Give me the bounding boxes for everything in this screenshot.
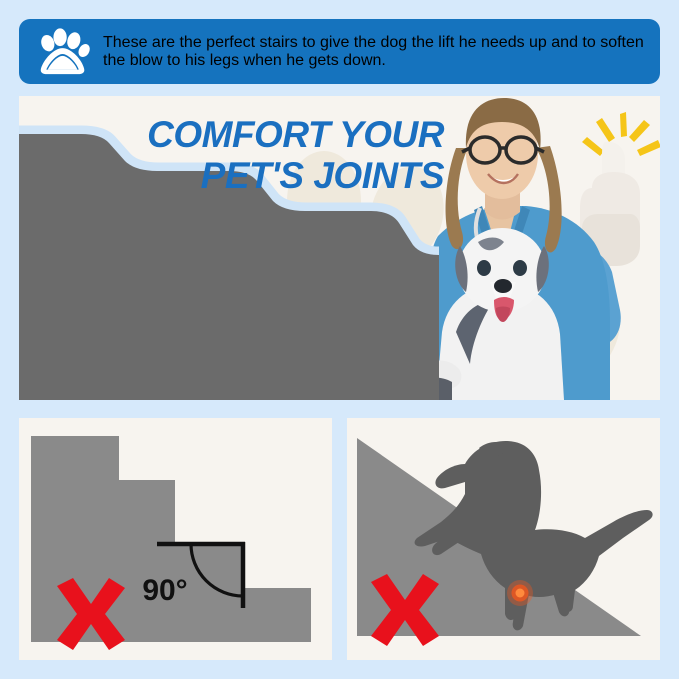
infographic-page: These are the perfect stairs to give the… (0, 0, 679, 679)
banner-text: These are the perfect stairs to give the… (103, 34, 648, 70)
orange-joint-pain-glow (507, 580, 533, 606)
square-stairs-diagram (19, 418, 332, 660)
panel-steep-square-stairs: 90° (19, 418, 332, 660)
info-banner: These are the perfect stairs to give the… (19, 19, 660, 84)
paw-print-icon (37, 27, 91, 77)
page-title: COMFORT YOUR PET'S JOINTS (59, 114, 444, 197)
panel-steep-ramp-with-dog (347, 418, 660, 660)
square-stairs-shape (31, 436, 311, 642)
steep-ramp-diagram (347, 418, 660, 660)
hero-panel: COMFORT YOUR PET'S JOINTS (19, 96, 660, 400)
